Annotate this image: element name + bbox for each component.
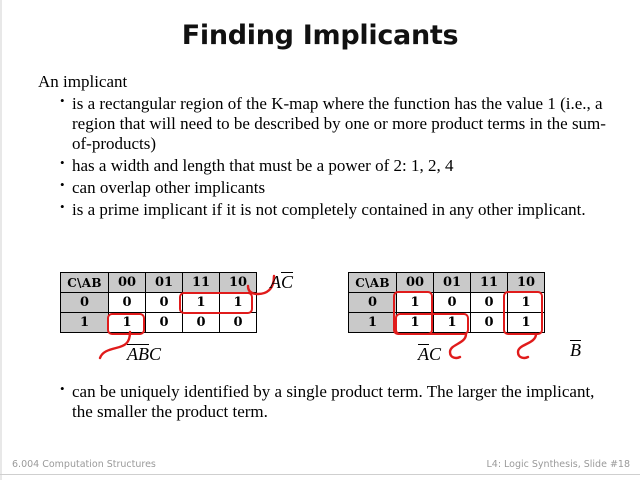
- row-header: 1: [349, 313, 397, 333]
- kmap-cell: 0: [434, 293, 471, 313]
- table-header-row: C\AB 00 01 11 10: [61, 273, 257, 293]
- slide-canvas: Finding Implicants An implicant is a rec…: [0, 0, 640, 480]
- column-header: 11: [183, 273, 220, 293]
- variable-b-bar: B: [570, 340, 581, 359]
- column-header: 00: [109, 273, 146, 293]
- kmap-cell: 1: [397, 313, 434, 333]
- row-header: 1: [61, 313, 109, 333]
- bullet-item: can be uniquely identified by a single p…: [60, 382, 614, 422]
- column-header: 10: [220, 273, 257, 293]
- variable-c: C: [429, 344, 441, 364]
- bullet-item: is a prime implicant if it is not comple…: [60, 200, 614, 220]
- implicant-label-ac-bar: AC: [270, 272, 293, 293]
- kmap-cell: 0: [146, 293, 183, 313]
- kmap-cell: 0: [220, 313, 257, 333]
- kmap-cell: 1: [508, 293, 545, 313]
- table-header-row: C\AB 00 01 11 10: [349, 273, 545, 293]
- kmap-cell: 1: [220, 293, 257, 313]
- lead-line: An implicant: [38, 72, 614, 92]
- bullet-list: is a rectangular region of the K-map whe…: [38, 94, 614, 220]
- footer-divider: [0, 474, 640, 475]
- variable-a: A: [270, 272, 281, 292]
- kmap-left-table: C\AB 00 01 11 10 0 0 0 1 1 1 1 0 0 0: [60, 272, 257, 333]
- kmap-cell: 1: [508, 313, 545, 333]
- variable-c-bar: C: [281, 272, 293, 291]
- row-header: 0: [61, 293, 109, 313]
- row-header: 0: [349, 293, 397, 313]
- column-header: 00: [397, 273, 434, 293]
- kmap-cell: 1: [109, 313, 146, 333]
- leader-line-bbar: [508, 332, 544, 362]
- column-header: 01: [434, 273, 471, 293]
- kmap-cell: 0: [109, 293, 146, 313]
- kmap-corner-label: C\AB: [61, 273, 109, 293]
- kmap-cell: 0: [146, 313, 183, 333]
- bullet-item: has a width and length that must be a po…: [60, 156, 614, 176]
- kmap-cell: 0: [183, 313, 220, 333]
- table-row: 1 1 0 0 0: [61, 313, 257, 333]
- column-header: 10: [508, 273, 545, 293]
- kmap-corner-label: C\AB: [349, 273, 397, 293]
- body-text-block: An implicant is a rectangular region of …: [38, 72, 614, 222]
- column-header: 01: [146, 273, 183, 293]
- variable-b-bar: B: [138, 344, 149, 363]
- kmap-cell: 1: [434, 313, 471, 333]
- table-row: 0 1 0 0 1: [349, 293, 545, 313]
- bullet-list-tail: can be uniquely identified by a single p…: [38, 382, 614, 422]
- kmap-cell: 0: [471, 293, 508, 313]
- implicant-label-abar-c: AC: [418, 344, 441, 365]
- kmap-cell: 1: [183, 293, 220, 313]
- column-header: 11: [471, 273, 508, 293]
- implicant-label-bbar: B: [570, 340, 581, 361]
- variable-c: C: [149, 344, 161, 364]
- kmap-left: C\AB 00 01 11 10 0 0 0 1 1 1 1 0 0 0: [60, 272, 257, 333]
- leader-line-abar-c: [442, 332, 476, 362]
- kmap-cell: 0: [471, 313, 508, 333]
- implicant-label-abar-bbar-c: ABC: [127, 344, 161, 365]
- table-row: 0 0 0 1 1: [61, 293, 257, 313]
- footer-slide-label: L4: Logic Synthesis, Slide #18: [486, 459, 630, 470]
- kmap-right: C\AB 00 01 11 10 0 1 0 0 1 1 1 1 0 1: [348, 272, 545, 333]
- kmap-cell: 1: [397, 293, 434, 313]
- variable-a-bar: A: [127, 344, 138, 363]
- bullet-item: is a rectangular region of the K-map whe…: [60, 94, 614, 154]
- table-row: 1 1 1 0 1: [349, 313, 545, 333]
- bullet-item: can overlap other implicants: [60, 178, 614, 198]
- left-edge-strip: [0, 0, 2, 480]
- kmap-right-table: C\AB 00 01 11 10 0 1 0 0 1 1 1 1 0 1: [348, 272, 545, 333]
- variable-a-bar: A: [418, 344, 429, 363]
- footer-course-label: 6.004 Computation Structures: [12, 459, 156, 470]
- tail-bullet-block: can be uniquely identified by a single p…: [38, 382, 614, 424]
- page-title: Finding Implicants: [0, 20, 640, 51]
